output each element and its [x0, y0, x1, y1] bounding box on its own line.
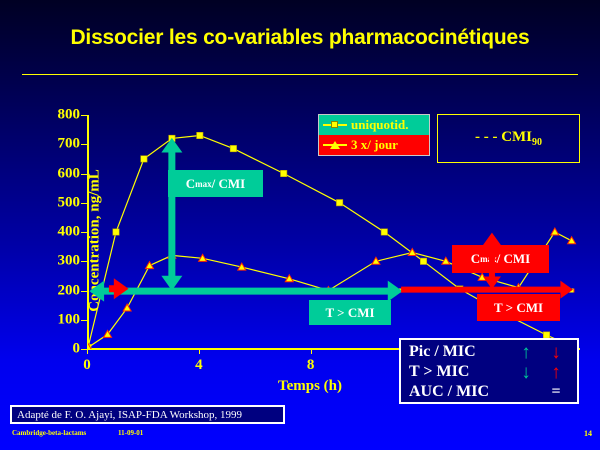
y-tick [81, 115, 87, 116]
x-axis-title: Temps (h) [210, 378, 410, 395]
series-marker-square [281, 170, 287, 176]
series-marker-square [197, 132, 203, 138]
y-tick-label: 100 [58, 311, 81, 328]
series-marker-triangle [123, 304, 131, 311]
series-marker-square [420, 258, 426, 264]
x-tick-label: 4 [195, 357, 203, 374]
callout-cmax-cmi-3x: Cmax / CMI [452, 245, 549, 273]
legend-item-3x-jour[interactable]: 3 x/ jour [319, 135, 429, 155]
series-marker-square [169, 135, 175, 141]
y-tick-label: 500 [58, 194, 81, 211]
y-tick-label: 800 [58, 107, 81, 124]
series-marker-triangle [146, 262, 154, 269]
series-marker-triangle [478, 273, 486, 280]
callout-t-cmi-uniquotid: T > CMI [309, 300, 391, 325]
legend-item-uniquotid[interactable]: uniquotid. [319, 115, 429, 135]
equals-sign-icon: = [541, 383, 571, 401]
cmi-threshold-legend: - - - CMI90 [437, 114, 580, 163]
up-arrow-red-icon: ↑ [541, 363, 571, 382]
summary-row-t-mic: T > MIC ↓ ↑ [409, 362, 577, 382]
footer-date: 11-09-01 [118, 429, 143, 437]
y-tick-label: 700 [58, 136, 81, 153]
down-arrow-teal-icon: ↓ [511, 363, 541, 382]
series-marker-square [113, 229, 119, 235]
page-number: 14 [584, 429, 592, 438]
series-marker-square [381, 229, 387, 235]
title-divider [22, 74, 578, 75]
summary-label-pic-mic: Pic / MIC [409, 343, 511, 361]
series-marker-square [141, 156, 147, 162]
triangle-marker-icon [323, 140, 347, 150]
footer-deck-name: Cambridge-beta-lactams [12, 429, 86, 437]
series-marker-triangle [568, 237, 576, 244]
summary-label-auc-mic: AUC / MIC [409, 383, 511, 401]
y-tick-label: 0 [73, 341, 81, 358]
series-marker-triangle [408, 248, 416, 255]
up-arrow-teal-icon: ↑ [511, 343, 541, 362]
footer-meta: Cambridge-beta-lactams 11-09-01 [12, 429, 143, 437]
x-tick-label: 8 [307, 357, 315, 374]
down-arrow-red-icon: ↓ [541, 343, 571, 362]
callout-cmax-cmi-uniquotid: Cmax / CMI [168, 170, 263, 197]
summary-label-t-mic: T > MIC [409, 363, 511, 381]
series-marker-square [230, 145, 236, 151]
legend-label-3x-jour: 3 x/ jour [351, 137, 398, 153]
summary-box: Pic / MIC ↑ ↓ T > MIC ↓ ↑ AUC / MIC = [399, 338, 579, 404]
chart-legend: uniquotid. 3 x/ jour [318, 114, 430, 156]
square-marker-icon [323, 120, 347, 130]
x-tick-label: 0 [83, 357, 91, 374]
y-tick-label: 600 [58, 165, 81, 182]
callout-t-cmi-3x: T > CMI [477, 294, 560, 321]
series-marker-triangle [551, 228, 559, 235]
y-tick-label: 400 [58, 224, 81, 241]
summary-row-auc-mic: AUC / MIC = [409, 382, 577, 402]
y-axis-title: Concentration, ng/mL [87, 136, 104, 346]
series-marker-triangle [168, 251, 176, 258]
summary-row-pic-mic: Pic / MIC ↑ ↓ [409, 342, 577, 362]
series-marker-square [336, 200, 342, 206]
source-credit: Adapté de F. O. Ajayi, ISAP-FDA Workshop… [10, 405, 285, 424]
legend-label-uniquotid: uniquotid. [351, 117, 408, 133]
page-title: Dissocier les co-variables pharmacocinét… [0, 26, 600, 50]
cmi-legend-label: - - - CMI90 [475, 129, 542, 148]
y-tick-label: 300 [58, 253, 81, 270]
y-tick-label: 200 [58, 282, 81, 299]
